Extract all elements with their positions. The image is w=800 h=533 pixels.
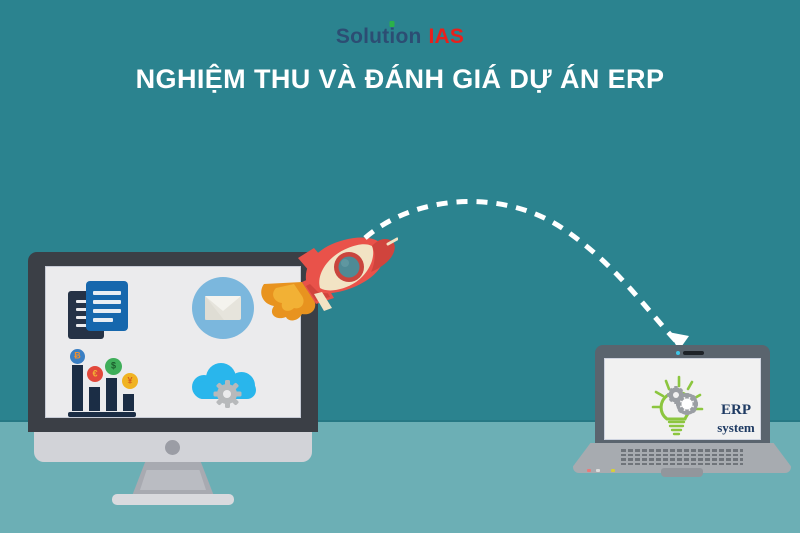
dollar-coin: $ bbox=[105, 358, 122, 375]
chart-bar bbox=[123, 394, 134, 411]
page-title: NGHIỆM THU VÀ ĐÁNH GIÁ DỰ ÁN ERP bbox=[0, 64, 800, 95]
bulb-gear-large bbox=[676, 393, 698, 415]
laptop-trackpad[interactable] bbox=[661, 468, 703, 477]
cloud-gear-icon bbox=[192, 355, 260, 411]
erp-label-line2: system bbox=[701, 420, 771, 436]
illustration-canvas: SolutionIAS NGHIỆM THU VÀ ĐÁNH GIÁ DỰ ÁN… bbox=[0, 0, 800, 533]
trajectory-svg bbox=[355, 190, 745, 365]
laptop-webcam-icon bbox=[676, 351, 680, 355]
chart-bar bbox=[72, 365, 83, 411]
gear-icon bbox=[214, 381, 240, 407]
laptop-screen: ERP system bbox=[604, 358, 761, 440]
chart-bar bbox=[89, 387, 100, 411]
logo-solution-part2: on bbox=[395, 25, 421, 48]
monitor-stand-base bbox=[112, 494, 234, 505]
bulb-base bbox=[669, 422, 684, 434]
laptop-led-indicator bbox=[587, 469, 591, 472]
bar-chart-icon: Ƀ € $ ¥ bbox=[68, 353, 150, 417]
euro-coin: € bbox=[87, 366, 103, 382]
euro-symbol: € bbox=[92, 369, 97, 378]
logo-solution-part1: Solut bbox=[336, 25, 390, 48]
yen-symbol: ¥ bbox=[127, 376, 132, 385]
laptop-led-indicator bbox=[611, 469, 615, 472]
logo-solution-letter-i: i bbox=[389, 26, 395, 47]
bitcoin-coin: Ƀ bbox=[70, 349, 85, 364]
lightbulb-svg bbox=[649, 375, 705, 437]
bitcoin-symbol: Ƀ bbox=[74, 352, 81, 361]
envelope-icon bbox=[192, 277, 254, 339]
dollar-symbol: $ bbox=[111, 362, 116, 371]
laptop-bezel-bar bbox=[683, 351, 704, 355]
monitor-stand-neck-highlight bbox=[140, 470, 206, 490]
laptop-keyboard bbox=[621, 449, 743, 465]
document-page bbox=[86, 281, 128, 331]
logo-ias: IAS bbox=[429, 25, 465, 48]
trajectory-path bbox=[365, 202, 677, 342]
yen-coin: ¥ bbox=[122, 373, 138, 389]
document-icon bbox=[68, 281, 130, 339]
chart-bar bbox=[106, 378, 117, 411]
chart-baseline bbox=[68, 412, 136, 417]
monitor-power-button[interactable] bbox=[165, 440, 180, 455]
dashed-trajectory-arrow bbox=[355, 190, 745, 365]
erp-system-label: ERP system bbox=[701, 401, 771, 436]
lightbulb-gears-icon bbox=[649, 375, 705, 437]
laptop-led-indicator bbox=[596, 469, 600, 472]
brand-logo: SolutionIAS bbox=[0, 26, 800, 47]
erp-label-line1: ERP bbox=[721, 402, 751, 418]
laptop-erp: ERP system bbox=[573, 345, 791, 485]
